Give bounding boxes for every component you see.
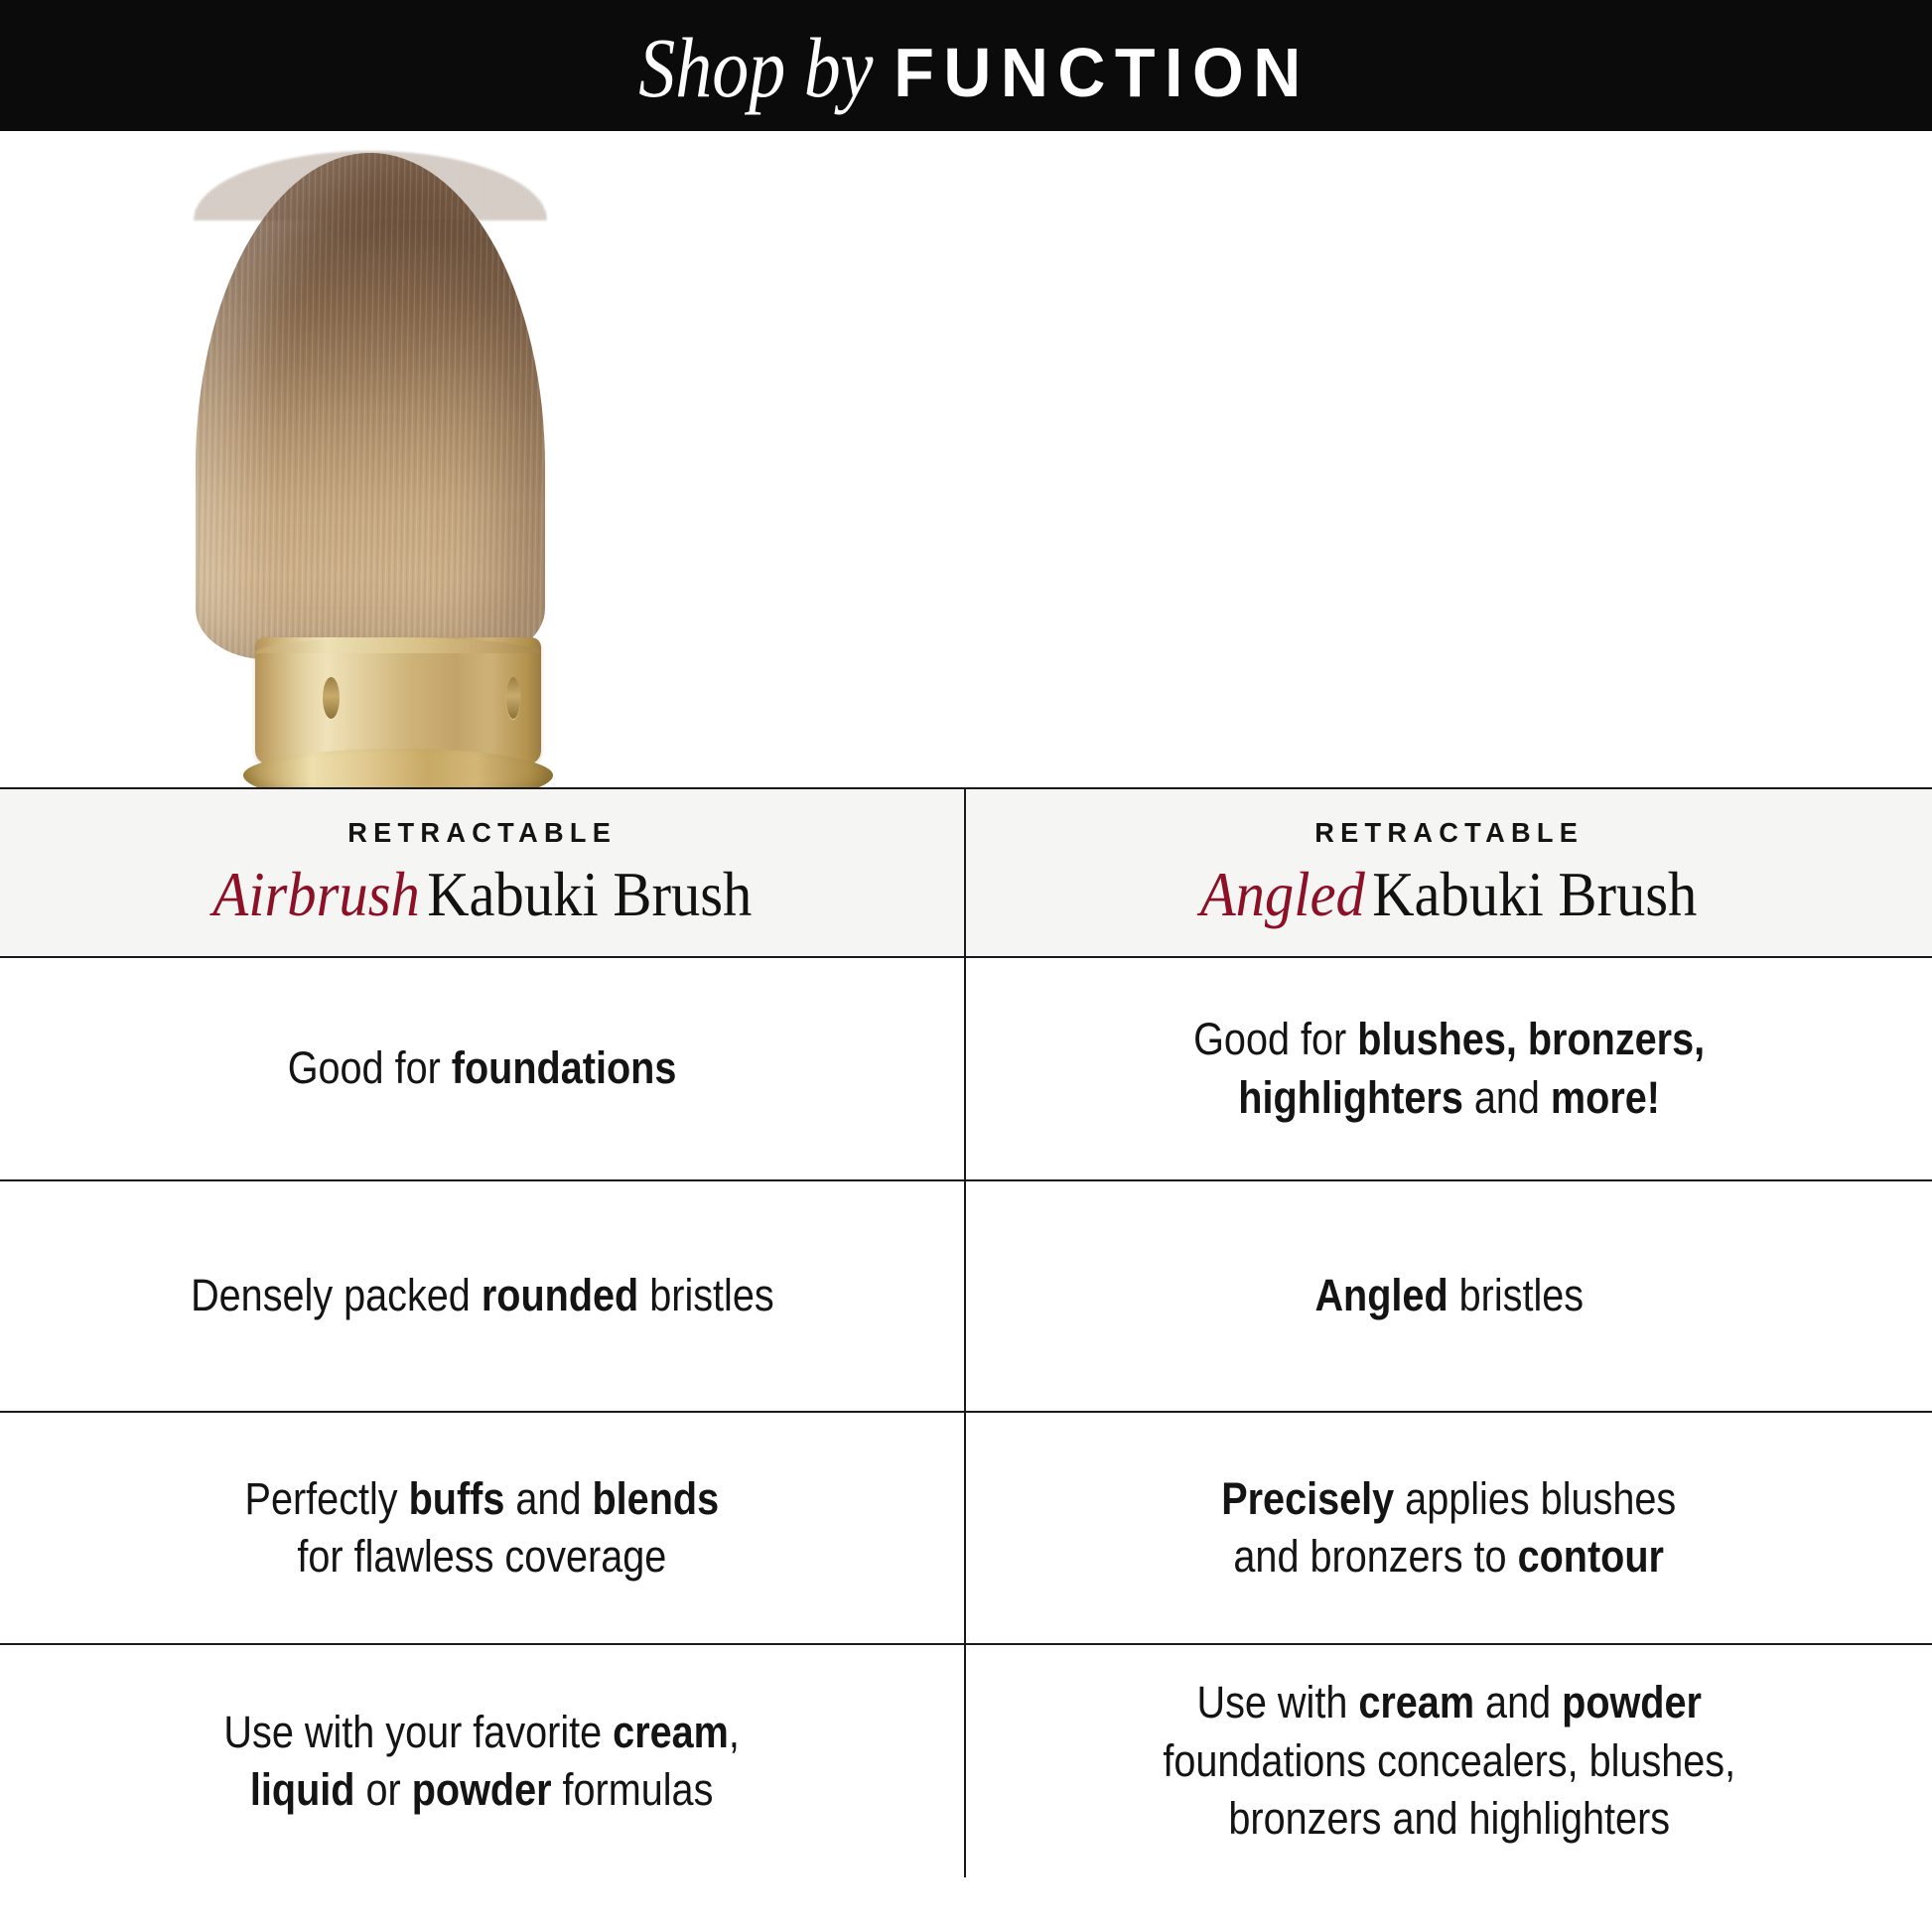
- table-row: Densely packed rounded bristles Angled b…: [0, 1181, 1932, 1413]
- feature-text: Good for foundations: [288, 1039, 677, 1098]
- feature-cell-left: Use with your favorite cream,liquid or p…: [0, 1645, 966, 1877]
- table-header-row: RETRACTABLE AirbrushKabuki Brush RETRACT…: [0, 789, 1932, 958]
- product-title-accent: Airbrush: [212, 860, 427, 929]
- feature-text: Angled bristles: [1314, 1267, 1584, 1325]
- page-title: Shop by FUNCTION: [600, 18, 1332, 117]
- ferrule-notch-right-icon: [506, 677, 520, 719]
- product-title-accent: Angled: [1200, 860, 1372, 929]
- feature-cell-right: Use with cream and powderfoundations con…: [966, 1645, 1932, 1877]
- table-row: Good for foundations Good for blushes, b…: [0, 958, 1932, 1181]
- airbrush-kabuki-brush-image: [196, 153, 545, 787]
- hero-image-left: [0, 131, 966, 787]
- feature-cell-right: Good for blushes, bronzers,highlighters …: [966, 958, 1932, 1179]
- feature-text: Precisely applies blushesand bronzers to…: [1222, 1470, 1677, 1587]
- product-title: AngledKabuki Brush: [1200, 861, 1698, 928]
- product-title-rest: Kabuki Brush: [427, 860, 752, 929]
- brush-ferrule-gold: [255, 637, 541, 764]
- page-title-script: Shop by: [638, 18, 878, 117]
- product-comparison-table: RETRACTABLE AirbrushKabuki Brush RETRACT…: [0, 787, 1932, 1877]
- product-eyebrow: RETRACTABLE: [347, 817, 617, 849]
- feature-cell-left: Densely packed rounded bristles: [0, 1181, 966, 1411]
- product-column-angled[interactable]: RETRACTABLE AngledKabuki Brush: [966, 789, 1932, 956]
- brush-bristles-rounded: [196, 153, 545, 659]
- feature-text: Use with your favorite cream,liquid or p…: [224, 1704, 740, 1820]
- product-title-rest: Kabuki Brush: [1373, 860, 1698, 929]
- page-header: Shop by FUNCTION: [0, 0, 1932, 131]
- hero-images: [0, 131, 1932, 787]
- feature-cell-left: Good for foundations: [0, 958, 966, 1179]
- feature-cell-right: Precisely applies blushesand bronzers to…: [966, 1413, 1932, 1643]
- ferrule-notch-left-icon: [323, 677, 340, 719]
- feature-text: Good for blushes, bronzers,highlighters …: [1193, 1011, 1705, 1127]
- product-column-airbrush[interactable]: RETRACTABLE AirbrushKabuki Brush: [0, 789, 966, 956]
- feature-text: Densely packed rounded bristles: [191, 1267, 774, 1325]
- shop-by-function-page: Shop by FUNCTION: [0, 0, 1932, 1932]
- ferrule-top-edge: [255, 637, 541, 653]
- page-title-caps: FUNCTION: [879, 33, 1311, 112]
- feature-cell-right: Angled bristles: [966, 1181, 1932, 1411]
- product-title: AirbrushKabuki Brush: [212, 861, 752, 928]
- hero-image-right: [966, 131, 1932, 787]
- table-row: Use with your favorite cream,liquid or p…: [0, 1645, 1932, 1877]
- feature-cell-left: Perfectly buffs and blendsfor flawless c…: [0, 1413, 966, 1643]
- feature-text: Perfectly buffs and blendsfor flawless c…: [245, 1470, 720, 1587]
- feature-text: Use with cream and powderfoundations con…: [1163, 1674, 1735, 1849]
- product-eyebrow: RETRACTABLE: [1314, 817, 1584, 849]
- table-row: Perfectly buffs and blendsfor flawless c…: [0, 1413, 1932, 1645]
